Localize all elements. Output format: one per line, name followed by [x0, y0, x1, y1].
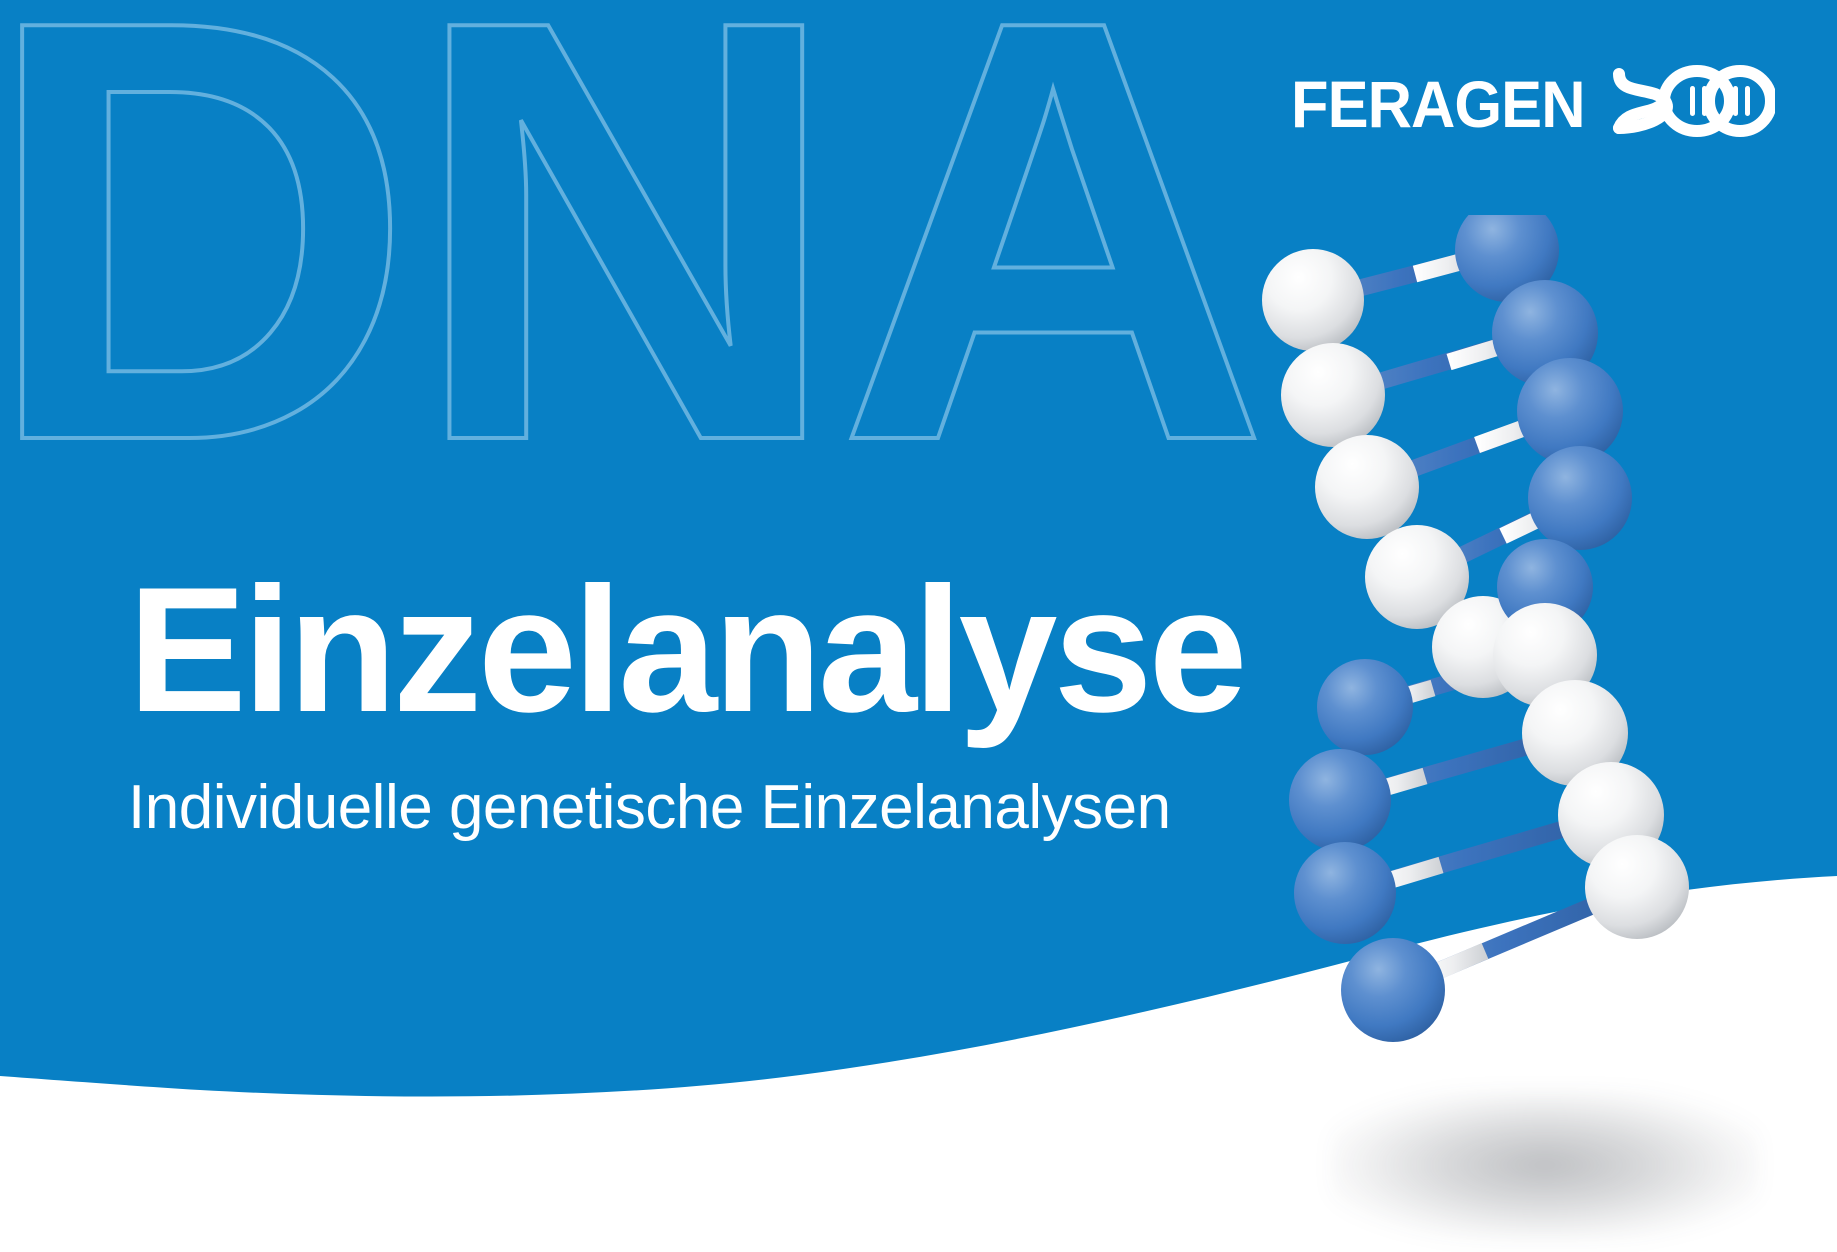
poster-canvas: DNA FERAGEN Einzelanalyse Indiv [0, 0, 1837, 1252]
feragen-wordmark: FERAGEN [1291, 71, 1585, 137]
page-subtitle: Individuelle genetische Einzelanalysen [128, 773, 1244, 843]
dna-helix-icon-svg [1609, 64, 1775, 138]
feragen-logo[interactable]: FERAGEN [1291, 64, 1775, 143]
dna-helix-icon [1609, 64, 1775, 143]
hero-text-block: Einzelanalyse Individuelle genetische Ei… [128, 555, 1244, 843]
page-title: Einzelanalyse [128, 555, 1244, 745]
